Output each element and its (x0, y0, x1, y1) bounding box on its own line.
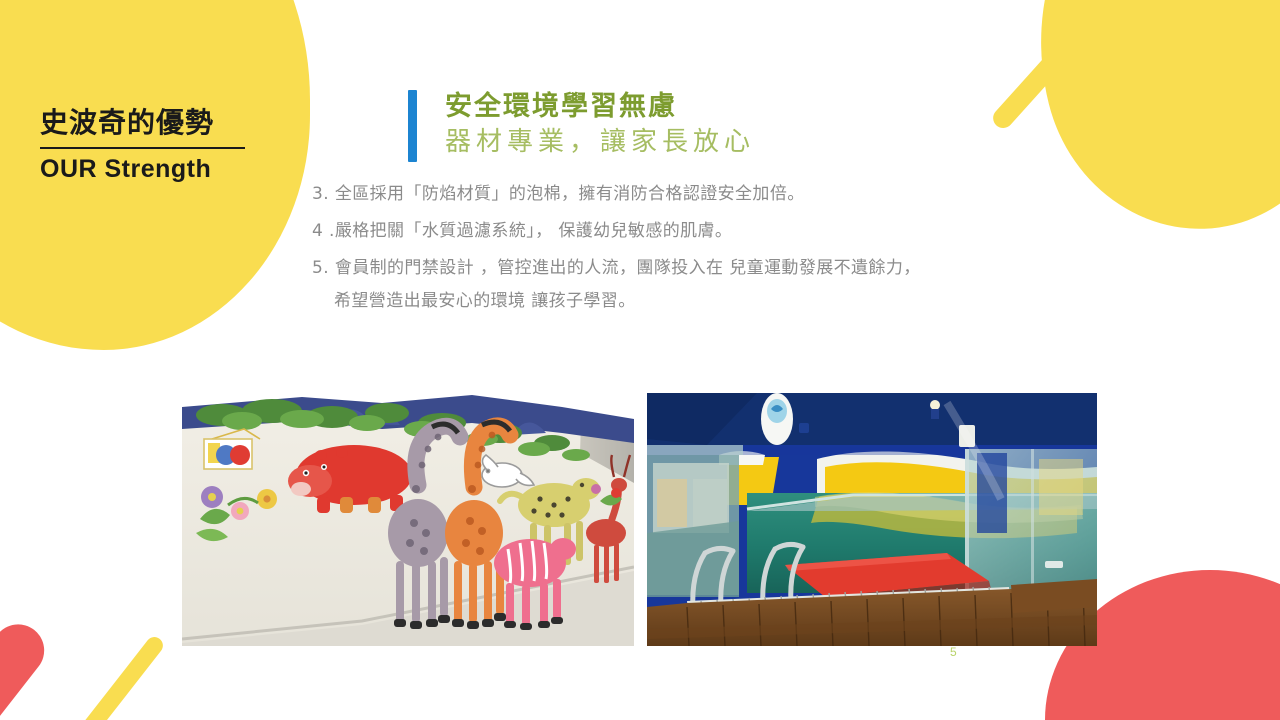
slide-title-block: 安全環境學習無慮 器材專業，讓家長放心 (408, 90, 755, 162)
slide: 史波奇的優勢 OUR Strength 安全環境學習無慮 器材專業，讓家長放心 … (0, 0, 1280, 720)
yellow-diagonal-bar-topright-decoration (989, 0, 1111, 132)
yellow-blob-topright-decoration (1001, 0, 1280, 261)
section-heading-block: 史波奇的優勢 OUR Strength (40, 108, 280, 184)
body-line-3: 3. 全區採用「防焰材質」的泡棉，擁有消防合格認證安全加倍。 (312, 186, 921, 203)
section-heading-chinese: 史波奇的優勢 (40, 108, 280, 139)
section-heading-divider (40, 147, 245, 149)
title-accent-bar (408, 90, 417, 162)
red-diagonal-bar-bottomleft-decoration (0, 614, 55, 720)
title-text-group: 安全環境學習無慮 器材專業，讓家長放心 (445, 90, 755, 162)
animal-mural-illustration (182, 393, 634, 646)
section-heading-english: OUR Strength (40, 155, 280, 184)
body-line-5-continuation: 希望營造出最安心的環境 讓孩子學習。 (334, 293, 921, 310)
page-subtitle: 器材專業，讓家長放心 (445, 126, 755, 160)
body-text-list: 3. 全區採用「防焰材質」的泡棉，擁有消防合格認證安全加倍。 4 .嚴格把關「水… (312, 186, 921, 330)
page-title: 安全環境學習無慮 (445, 90, 755, 124)
swimming-pool-illustration (647, 393, 1097, 646)
body-line-5: 5. 會員制的門禁設計 ，管控進出的人流，團隊投入在 兒童運動發展不遺餘力， (312, 260, 921, 277)
swimming-pool-photo (647, 393, 1097, 646)
body-line-4: 4 .嚴格把關「水質過濾系統」， 保護幼兒敏感的肌膚。 (312, 223, 921, 240)
yellow-diagonal-bar-bottomleft-decoration (67, 634, 167, 720)
page-number: 5 (950, 645, 957, 659)
animal-mural-photo (182, 393, 634, 646)
